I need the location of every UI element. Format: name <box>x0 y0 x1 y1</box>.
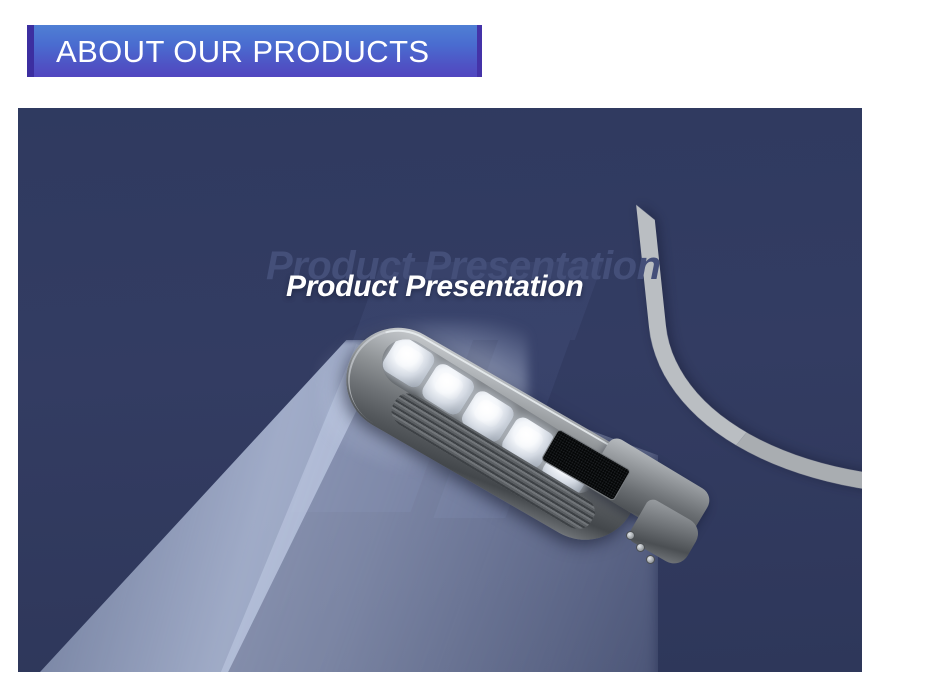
figure-title-group: Product Presentation Product Presentatio… <box>18 250 862 330</box>
section-heading-banner: ABOUT OUR PRODUCTS <box>27 25 482 77</box>
figure-title: Product Presentation <box>286 270 583 304</box>
lamp-housing <box>327 309 656 559</box>
bracket-bolt-icon <box>646 555 655 564</box>
bracket-bolt-icon <box>626 531 635 540</box>
bracket-bolt-icon <box>636 543 645 552</box>
section-heading-label: ABOUT OUR PRODUCTS <box>34 36 430 67</box>
led-street-light-fixture <box>338 313 718 583</box>
product-presentation-image: Product Presentation Product Presentatio… <box>18 108 862 672</box>
